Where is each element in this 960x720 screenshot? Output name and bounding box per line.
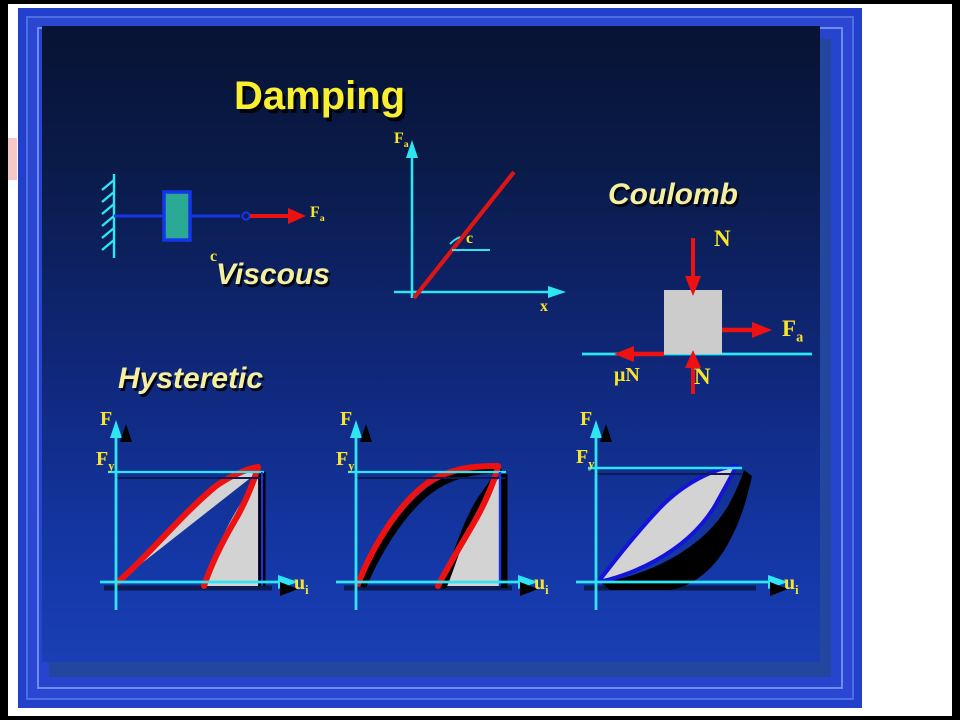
plot1-x-axis-label: ui <box>294 572 309 598</box>
coulomb-normal-bottom-label: N <box>694 364 711 390</box>
wall-hatching <box>102 174 114 258</box>
viscous-section-label: Viscous <box>216 258 330 292</box>
plot3-y-axis-label: F <box>580 408 592 431</box>
coulomb-normal-top-label: N <box>714 226 731 252</box>
coulomb-section-label: Coulomb <box>608 178 738 212</box>
plot3-yield-label: Fy <box>576 446 594 472</box>
connection-node <box>242 212 249 219</box>
plot2-y-arrow-shadow <box>360 424 372 442</box>
dashpot-force-label: Fa <box>310 204 325 224</box>
plot2-y-axis-label: F <box>340 408 352 431</box>
page-title: Damping <box>234 74 405 119</box>
margin-marker <box>8 138 17 180</box>
dashpot-body <box>164 192 190 240</box>
slide-root: Damping <box>0 0 960 720</box>
sliding-block <box>664 290 722 354</box>
plot1-yield-label: Fy <box>96 448 114 474</box>
hysteresis-plot-3 <box>566 410 816 620</box>
coulomb-friction-label: μN <box>614 364 640 387</box>
plot3-x-axis-label: ui <box>784 572 799 598</box>
viscous-linear-relation <box>414 172 514 298</box>
plot3-y-arrow-shadow <box>600 424 612 442</box>
applied-force-arrow <box>722 322 772 338</box>
slide-canvas: Damping <box>42 26 820 662</box>
hysteresis-plot-2 <box>326 410 556 620</box>
hysteresis-plot-1 <box>86 410 316 620</box>
plot1-y-axis-label: F <box>100 408 112 431</box>
page-background-right <box>880 4 942 716</box>
plot1-y-axis-shadow <box>120 424 132 442</box>
friction-force-arrow <box>614 346 664 362</box>
hysteretic-section-label: Hysteretic <box>118 362 263 396</box>
graph-y-axis-label: Fa <box>394 130 409 150</box>
force-arrow-fa <box>250 208 306 224</box>
graph-slope-label: c <box>466 230 473 248</box>
plot2-yield-label: Fy <box>336 448 354 474</box>
graph-x-axis-label: x <box>540 298 548 316</box>
normal-force-down-arrow <box>685 238 701 296</box>
plot2-x-axis-label: ui <box>534 572 549 598</box>
plot1-loop-fill <box>118 470 258 586</box>
graph-y-axis <box>406 140 418 298</box>
viscous-force-velocity-graph <box>372 134 592 314</box>
coulomb-applied-force-label: Fa <box>782 316 803 347</box>
